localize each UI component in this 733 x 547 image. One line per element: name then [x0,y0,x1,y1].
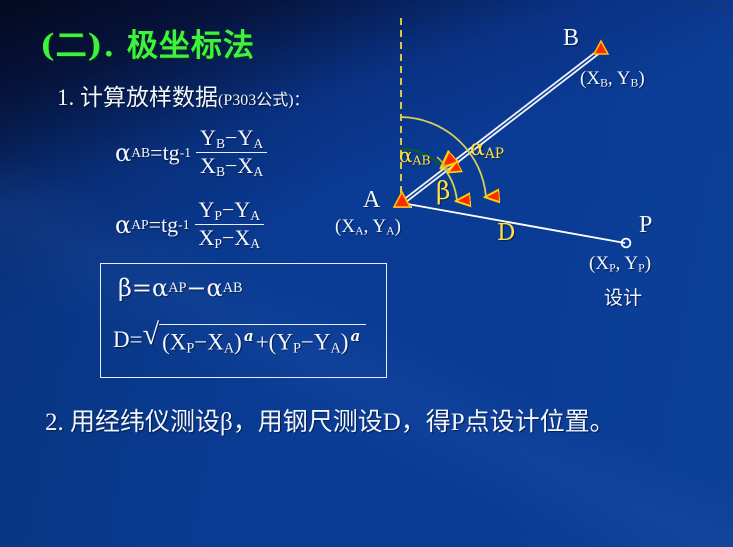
formula-alpha-ap-lhs: α [115,211,131,239]
pb-mid: , Y [608,68,631,89]
point-a-coords: (XA, YA) [335,216,401,239]
formula-alpha-ap-lhs-sub: AP [131,217,148,233]
den-x1: X [199,225,215,250]
aab-sub: AB [413,153,431,168]
formula-alpha-ab-lhs: α [115,139,131,167]
step-1-note: (P303公式)： [218,92,310,109]
pb-open: (X [580,68,600,89]
den-x1: X [200,153,216,178]
rad-t3: ) [234,329,242,354]
step-1-number: 1. [57,85,74,110]
num-y1-sub: P [214,208,222,223]
formula-beta-sub1: AP [168,280,186,297]
num-y2-sub: A [250,208,260,223]
formula-alpha-ap: αAP=tg-1 YP−YA XP−XA [115,198,264,252]
point-b-label: B [563,25,579,52]
num-y2-sub: A [253,136,263,151]
num-y2: −Y [225,125,253,150]
pp-close: ) [645,253,651,274]
formula-alpha-ab-denominator: XB−XA [196,152,267,179]
den-x2: −X [225,153,253,178]
rad-t5-sub: A [330,340,340,356]
radicand: (XP−XA)a+(YP−YA)a [159,324,366,357]
pb-close: ) [638,68,644,89]
aab-glyph: α [399,143,413,167]
page-title: (二). 极坐标法 [40,20,255,65]
formula-alpha-ap-denominator: XP−XA [195,224,265,251]
formula-alpha-ap-numerator: YP−YA [195,198,265,224]
step-2-text: 2. 用经纬仪测设β，用钢尺测设D，得P点设计位置。 [45,402,615,438]
formula-alpha-ab-lhs-sub: AB [131,145,150,161]
den-x2-sub: A [253,164,263,179]
rad-plus: + [256,329,269,354]
rad-t1: (X [162,329,186,354]
rad-t2: −X [194,329,224,354]
rad-t4: (Y [269,329,293,354]
pa-mid: , Y [364,216,387,237]
radical-sign: √ [143,320,159,355]
formula-alpha-ab-op: =tg [150,140,180,166]
formula-distance: D= √ (XP−XA)a+(YP−YA)a [113,322,366,357]
step-1-heading: 1. 计算放样数据(P303公式)： [57,78,310,112]
pp-mid: , Y [616,253,639,274]
rad-t2-sub: A [224,340,234,356]
num-y1-sub: B [216,136,225,151]
corner-watermark: (二). 极坐标法 [669,2,729,11]
rad-t4-sub: P [293,340,301,356]
angle-beta-label: β [436,176,450,205]
den-x1-sub: B [216,164,225,179]
formula-beta-minus: −α [186,274,222,302]
num-y2: −Y [222,197,250,222]
step-1-text: 计算放样数据 [80,85,218,110]
den-x2: −X [222,225,250,250]
slide-canvas: (二). 极坐标法 (二). 极坐标法 1. 计算放样数据(P303公式)： α… [0,0,733,547]
point-p-coords: (XP, YP) [589,253,651,276]
pa-open: (X [335,216,355,237]
formula-alpha-ap-fraction: YP−YA XP−XA [195,198,265,252]
aap-sub: AP [485,146,504,162]
point-p-label: P [639,212,652,239]
pa-sub1: A [355,225,364,238]
formula-distance-sqrt: √ (XP−XA)a+(YP−YA)a [143,322,367,357]
formula-beta-lhs: β=α [118,274,168,302]
formula-alpha-ap-op: =tg [149,212,179,238]
point-b-coords: (XB, YB) [580,68,645,91]
formula-distance-lead: D= [113,327,143,353]
rad-exp1: a [242,327,256,345]
pa-sub2: A [386,225,395,238]
rad-exp2: a [348,327,362,345]
formula-alpha-ap-op-sup: -1 [178,217,189,233]
rad-t5: −Y [301,329,331,354]
pp-open: (X [589,253,609,274]
corner-watermark-text: (二). 极坐标法 [669,2,729,11]
num-y1: Y [199,197,215,222]
formula-alpha-ab: αAB=tg-1 YB−YA XB−XA [115,126,267,180]
formula-alpha-ab-op-sup: -1 [180,145,191,161]
den-x1-sub: P [214,236,222,251]
angle-alpha-ab-label: αAB [399,143,431,168]
distance-d-label: D [497,220,515,246]
pa-close: ) [395,216,401,237]
ray-ab-inner [402,50,601,203]
angle-alpha-ap-label: αAP [470,136,504,162]
station-marker-b [594,41,608,54]
point-a-label: A [363,187,380,214]
formula-beta-sub2: AB [223,280,243,297]
den-x2-sub: A [250,236,260,251]
formula-beta: β=αAP−αAB [118,274,243,302]
formula-alpha-ab-numerator: YB−YA [196,126,267,152]
pb-sub1: B [600,77,608,90]
formula-alpha-ab-fraction: YB−YA XB−XA [196,126,267,180]
num-y1: Y [200,125,216,150]
point-p-note: 设计 [604,283,642,310]
aap-glyph: α [470,136,485,161]
